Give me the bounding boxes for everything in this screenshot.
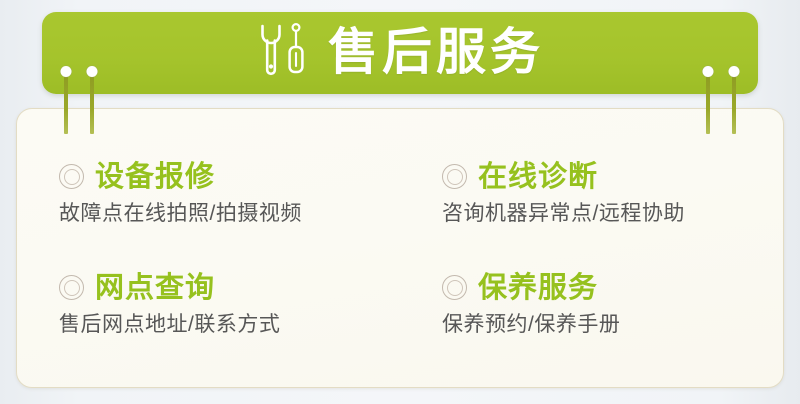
service-item-online-diagnosis[interactable]: 在线诊断 咨询机器异常点/远程协助	[400, 139, 783, 250]
service-item-subtitle: 故障点在线拍照/拍摄视频	[59, 201, 400, 227]
service-item-title: 保养服务	[478, 273, 598, 303]
pin-icon-right-2	[732, 72, 736, 134]
pin-icon-left-1	[64, 72, 68, 134]
service-item-subtitle: 咨询机器异常点/远程协助	[442, 201, 783, 227]
service-items-card: 设备报修 故障点在线拍照/拍摄视频 在线诊断 咨询机器异常点/远程协助 网点查询…	[16, 108, 784, 388]
service-item-title: 设备报修	[95, 162, 215, 192]
double-circle-bullet-icon	[59, 275, 84, 300]
service-item-subtitle: 售后网点地址/联系方式	[59, 312, 400, 338]
service-item-header: 设备报修	[59, 162, 400, 192]
double-circle-bullet-icon	[442, 275, 467, 300]
banner-content: 售后服务	[256, 21, 544, 83]
service-item-header: 在线诊断	[442, 162, 783, 192]
service-item-header: 保养服务	[442, 273, 783, 303]
service-item-title: 网点查询	[95, 273, 215, 303]
service-item-subtitle: 保养预约/保养手册	[442, 312, 783, 338]
service-item-title: 在线诊断	[478, 162, 598, 192]
pin-icon-left-2	[90, 72, 94, 134]
service-item-maintenance[interactable]: 保养服务 保养预约/保养手册	[400, 250, 783, 361]
service-panel: 售后服务 设备报修 故障点在线拍照/拍摄视频 在线诊断 咨询机器异常点/远程协助	[0, 0, 800, 404]
double-circle-bullet-icon	[442, 164, 467, 189]
double-circle-bullet-icon	[59, 164, 84, 189]
header-banner: 售后服务	[42, 12, 758, 94]
service-item-header: 网点查询	[59, 273, 400, 303]
pin-icon-right-1	[706, 72, 710, 134]
banner-title: 售后服务	[328, 27, 544, 77]
wrench-screwdriver-icon	[256, 21, 312, 83]
service-item-branch-lookup[interactable]: 网点查询 售后网点地址/联系方式	[17, 250, 400, 361]
service-items-grid: 设备报修 故障点在线拍照/拍摄视频 在线诊断 咨询机器异常点/远程协助 网点查询…	[17, 109, 783, 387]
service-item-equipment-repair[interactable]: 设备报修 故障点在线拍照/拍摄视频	[17, 139, 400, 250]
